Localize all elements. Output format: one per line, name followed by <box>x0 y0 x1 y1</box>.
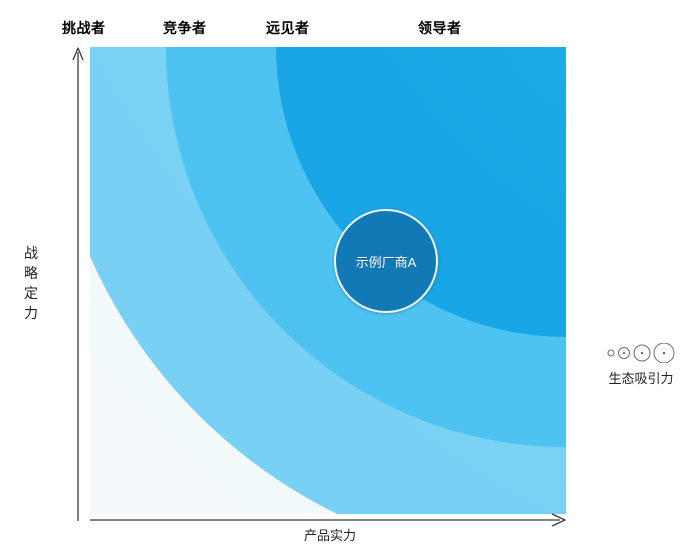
quadrant-label-challenger: 挑战者 <box>62 18 106 38</box>
legend-title: 生态吸引力 <box>598 368 684 387</box>
legend-size-markers <box>598 342 684 364</box>
y-axis-title-char-3: 定 <box>22 283 40 303</box>
quadrant-label-visionary: 远见者 <box>266 18 310 38</box>
legend: 生态吸引力 <box>598 342 684 387</box>
quadrant-label-competitor: 竞争者 <box>163 18 207 38</box>
quadrant-bubble-chart: 挑战者 竞争者 远见者 领导者 <box>0 0 692 560</box>
quadrant-label-leader: 领导者 <box>418 18 462 38</box>
bubble-vendor-a[interactable]: 示例厂商A <box>334 209 438 313</box>
y-axis-arrowhead <box>73 48 83 60</box>
y-axis-title-char-2: 略 <box>22 263 40 283</box>
y-axis-title-char-1: 战 <box>22 243 40 263</box>
plot-area <box>90 47 566 514</box>
legend-circles-icon <box>603 343 679 363</box>
y-axis-title-char-4: 力 <box>22 303 40 323</box>
band-svg <box>90 47 566 514</box>
y-axis-title: 战 略 定 力 <box>22 243 40 323</box>
x-axis-title: 产品实力 <box>0 525 660 544</box>
bubble-label: 示例厂商A <box>356 252 417 271</box>
